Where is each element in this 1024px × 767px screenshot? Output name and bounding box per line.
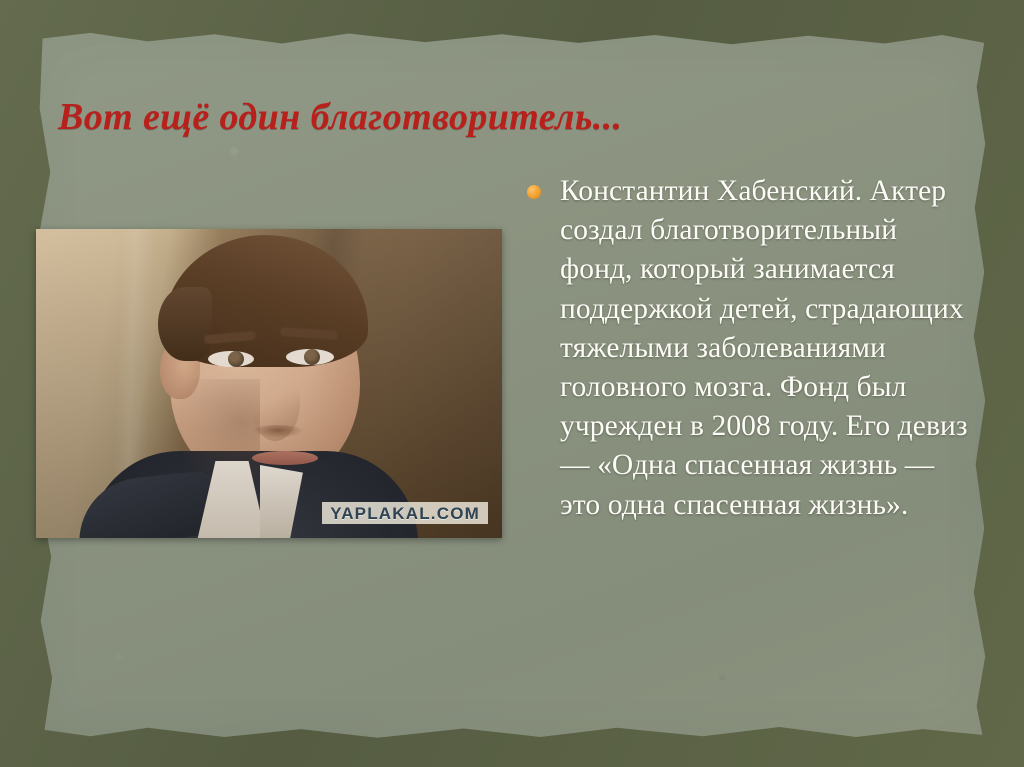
bullet-list-item: Константин Хабенский. Актер создал благо… (527, 172, 973, 525)
bullet-dot-icon (527, 185, 541, 199)
body-paragraph: Константин Хабенский. Актер создал благо… (560, 172, 973, 525)
presentation-slide: Вот ещё один благотворитель... YAPLAKAL.… (0, 0, 1024, 767)
figure-iris-right (304, 349, 320, 365)
figure-iris-left (228, 351, 244, 367)
figure-mouth (252, 451, 318, 465)
slide-title: Вот ещё один благотворитель... (58, 98, 918, 138)
figure-nostril (252, 425, 304, 438)
portrait-photo: YAPLAKAL.COM (36, 229, 502, 538)
slide-body: Константин Хабенский. Актер создал благо… (527, 172, 973, 525)
photo-watermark: YAPLAKAL.COM (322, 502, 488, 524)
